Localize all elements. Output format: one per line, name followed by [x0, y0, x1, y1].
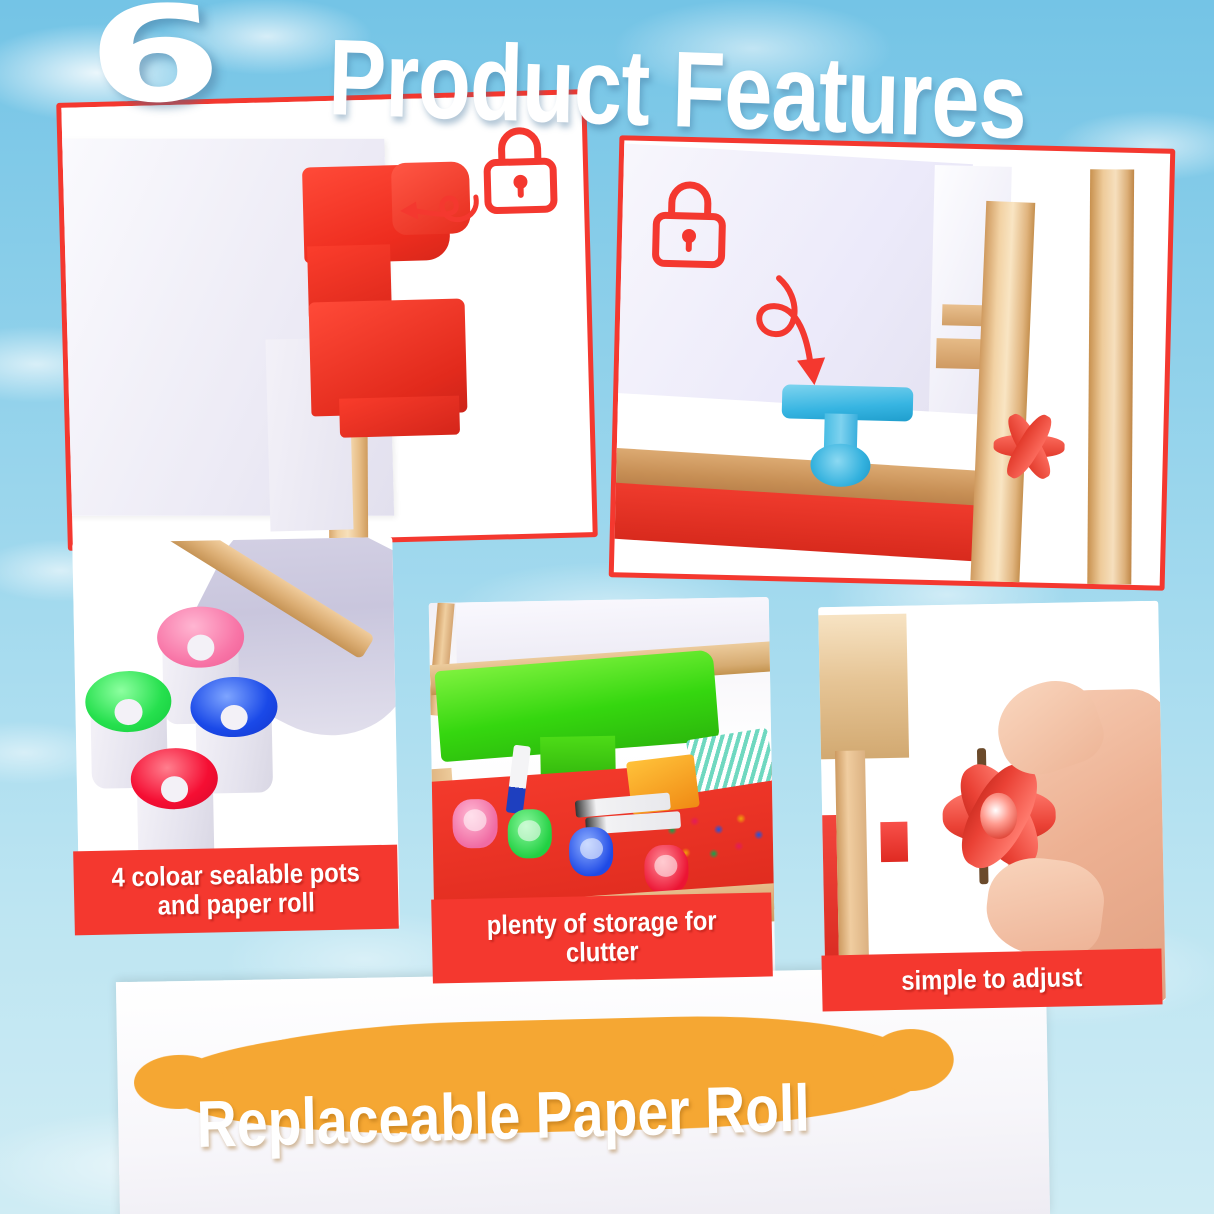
feature-count-number: 6 [83, 0, 214, 124]
easel-top-block [818, 614, 909, 760]
curved-arrow-down-right-icon [734, 271, 847, 404]
curved-arrow-left-icon [383, 175, 485, 238]
secondary-red-knob [880, 822, 908, 863]
caption-paint-pots-label: 4 coloar sealable pots and paper roll [102, 858, 371, 922]
caption-paint-pots: 4 coloar sealable pots and paper roll [73, 845, 399, 936]
tray-pot-pink [453, 798, 498, 848]
adjust-knob [999, 417, 1060, 475]
page-title: Product Features [327, 14, 1027, 163]
panel-whiteboard-lock-clamp[interactable] [56, 89, 598, 551]
tray-pot-red [644, 844, 689, 894]
lock-icon [647, 175, 731, 273]
tray-pot-green [507, 809, 552, 859]
tray-pot-blue [569, 827, 614, 877]
caption-storage-label: plenty of storage for clutter [461, 906, 744, 970]
header: 6 Product Features [0, 0, 1214, 150]
clamp-foot [339, 395, 460, 438]
caption-adjust-label: simple to adjust [901, 964, 1082, 997]
easel-leg-rear [1087, 169, 1134, 584]
caption-adjust: simple to adjust [821, 948, 1162, 1011]
panel-easel-paper-clip[interactable] [609, 135, 1176, 590]
caption-storage: plenty of storage for clutter [431, 892, 773, 983]
